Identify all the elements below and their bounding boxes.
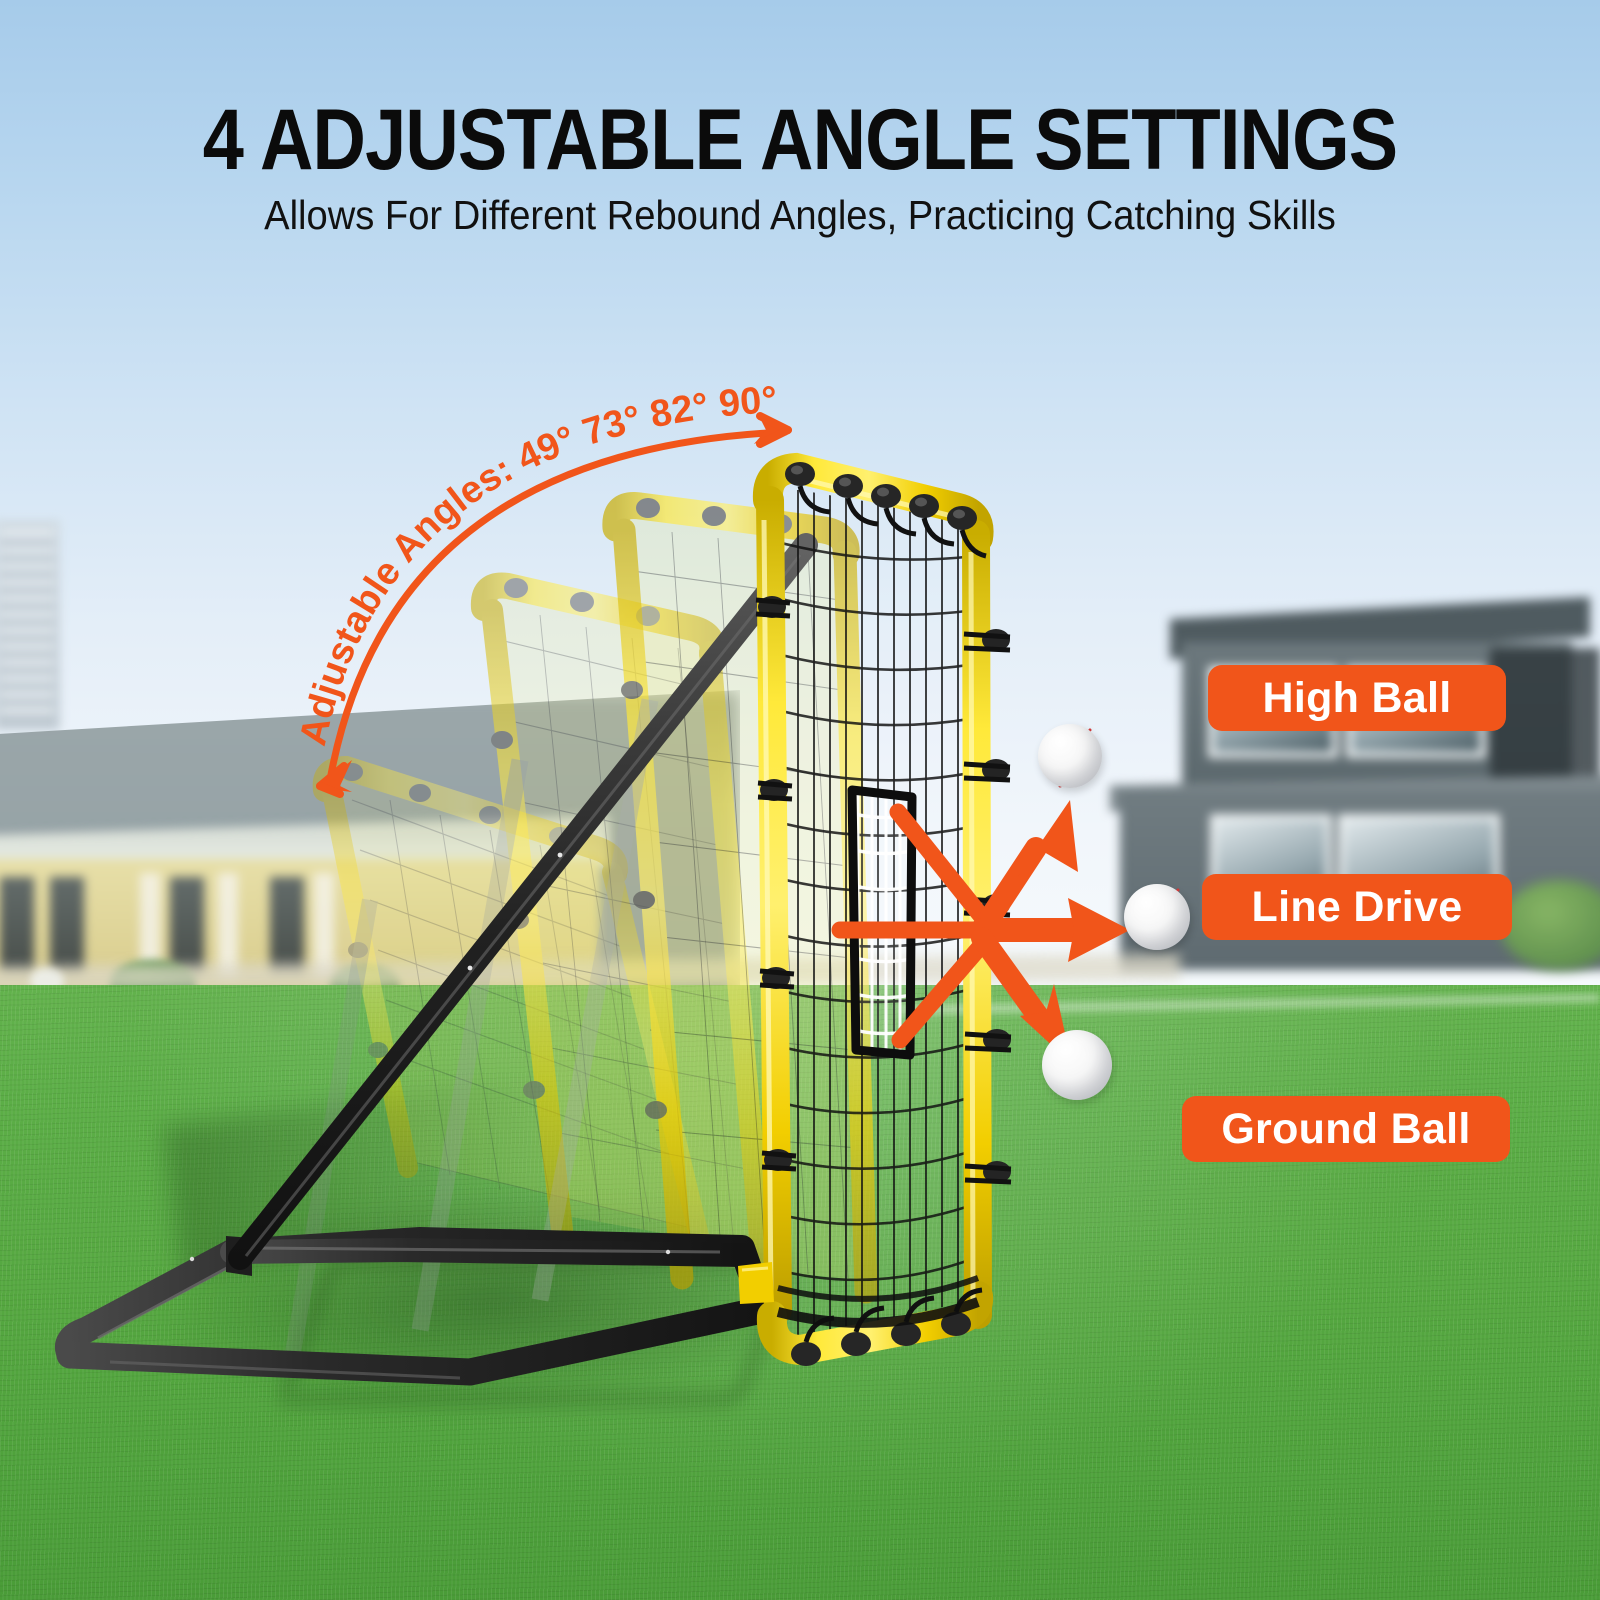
- net-panel: [770, 485, 975, 1345]
- callout-high-ball[interactable]: High Ball: [1208, 665, 1506, 731]
- callout-ground-ball[interactable]: Ground Ball: [1182, 1096, 1510, 1162]
- baseball-high: [1038, 724, 1102, 788]
- baseball-line: [1124, 884, 1190, 950]
- baseball-ground: [1042, 1030, 1112, 1100]
- arrow-high-ball: [982, 800, 1078, 930]
- base-frame: [68, 1236, 762, 1378]
- callout-line-drive[interactable]: Line Drive: [1202, 874, 1512, 940]
- page-subtitle: Allows For Different Rebound Angles, Pra…: [56, 192, 1544, 239]
- page-title: 4 ADJUSTABLE ANGLE SETTINGS: [112, 95, 1488, 185]
- product-infographic: Adjustable Angles: 49° 73° 82° 90°: [0, 0, 1600, 1600]
- rebounder-net-illustration: Adjustable Angles: 49° 73° 82° 90°: [0, 0, 1600, 1600]
